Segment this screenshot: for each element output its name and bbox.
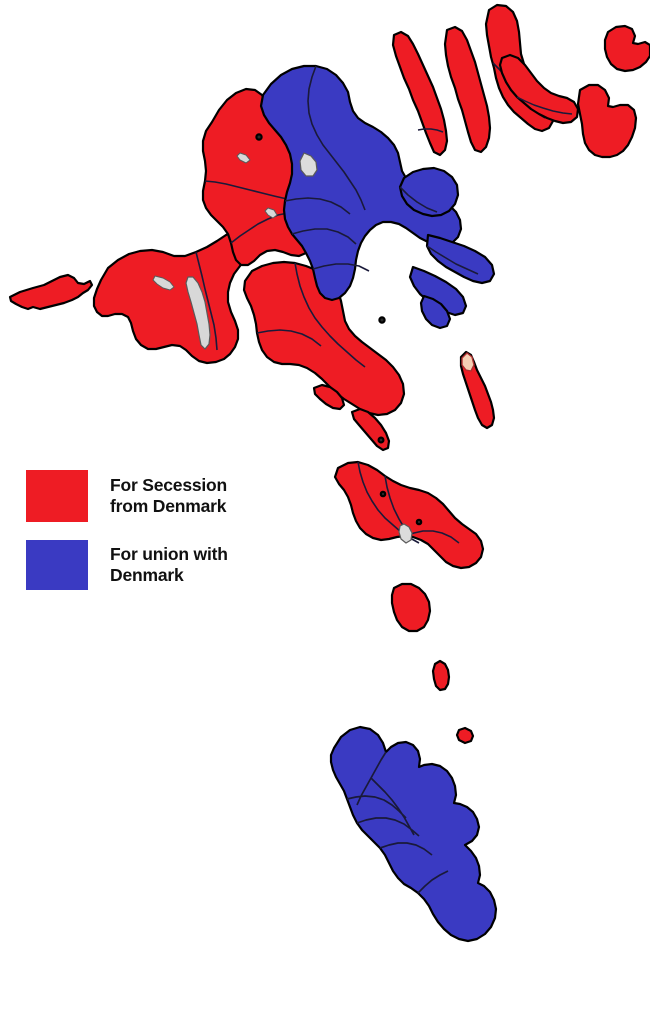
sandoy-dot-1 [381, 492, 385, 496]
legend-label-union: For union with Denmark [110, 544, 228, 586]
legend-swatch-secession [26, 470, 88, 522]
region-stora-dimun [433, 661, 449, 690]
legend-item-secession: For Secession from Denmark [26, 470, 276, 522]
legend-swatch-union [26, 540, 88, 590]
streymoy-south-dot [379, 317, 384, 322]
streymoy-lake-dot-1 [256, 134, 261, 139]
region-litla-dimun [457, 728, 473, 743]
map-legend: For Secession from Denmark For union wit… [26, 470, 276, 608]
legend-label-secession: For Secession from Denmark [110, 475, 227, 517]
hestur-dot [379, 438, 384, 443]
sandoy-dot-2 [417, 520, 421, 524]
legend-item-union: For union with Denmark [26, 540, 276, 590]
